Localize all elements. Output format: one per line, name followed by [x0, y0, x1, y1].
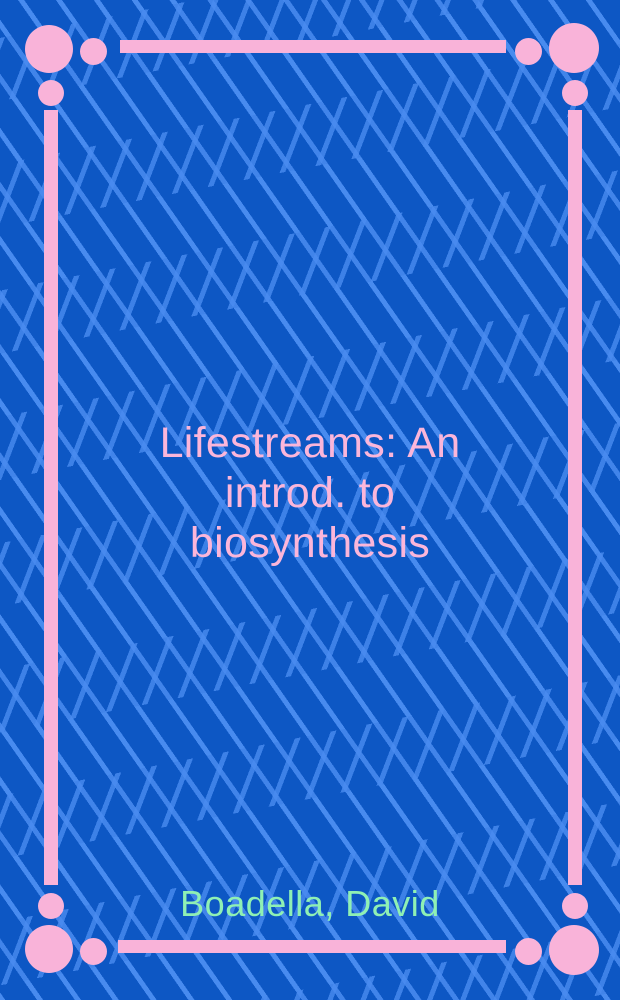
- decorative-circle-bottom-right-medium: [515, 938, 542, 965]
- decorative-circle-bottom-right-small: [562, 893, 588, 919]
- decorative-bar-left: [44, 110, 58, 885]
- decorative-bar-right: [568, 110, 582, 885]
- decorative-circle-top-left-small: [38, 80, 64, 106]
- decorative-circle-bottom-left-large: [25, 925, 73, 973]
- decorative-circle-bottom-right-large: [549, 925, 599, 975]
- decorative-circle-bottom-left-medium: [80, 938, 107, 965]
- book-title-line-3: biosynthesis: [70, 518, 550, 568]
- book-author-name: Boadella, David: [70, 883, 550, 925]
- decorative-circle-top-right-small: [562, 80, 588, 106]
- decorative-bar-top: [120, 40, 506, 53]
- decorative-circle-bottom-left-small: [38, 893, 64, 919]
- decorative-circle-top-left-medium: [80, 38, 107, 65]
- decorative-circle-top-right-medium: [515, 38, 542, 65]
- book-title-line-1: Lifestreams: An: [70, 418, 550, 468]
- book-title-line-2: introd. to: [70, 468, 550, 518]
- book-author: Boadella, David: [70, 883, 550, 925]
- decorative-bar-bottom: [118, 940, 506, 953]
- book-cover: Lifestreams: An introd. to biosynthesis …: [0, 0, 620, 1000]
- decorative-circle-top-right-large: [549, 23, 599, 73]
- book-title: Lifestreams: An introd. to biosynthesis: [70, 418, 550, 568]
- decorative-circle-top-left-large: [25, 25, 73, 73]
